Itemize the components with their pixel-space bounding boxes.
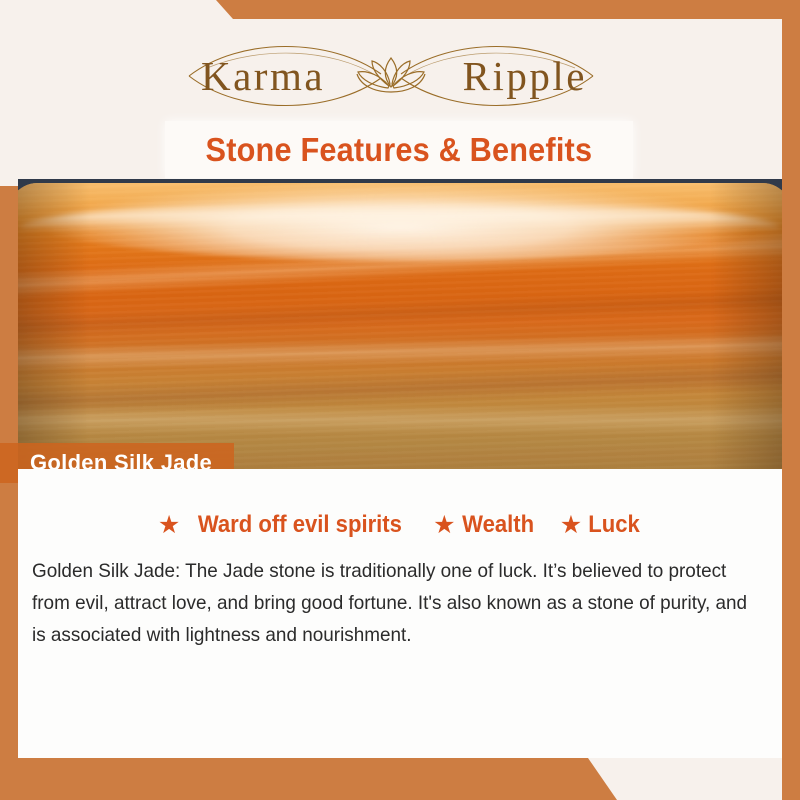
star-icon: ★ xyxy=(560,513,582,538)
frame-top-bar xyxy=(0,0,800,19)
benefit-item: ★ Wealth xyxy=(433,511,538,539)
benefit-label: Wealth xyxy=(463,511,535,539)
frame-right-bar xyxy=(782,0,800,800)
brand-name-second: Ripple xyxy=(463,52,587,100)
product-info-card: Karma Ripple Stone Features & Benefits G… xyxy=(0,0,800,800)
brand-name: Karma Ripple xyxy=(181,52,601,100)
section-title-banner: Stone Features & Benefits xyxy=(165,121,633,178)
stone-specimen xyxy=(18,183,782,469)
frame-left-bar xyxy=(0,186,18,800)
star-icon: ★ xyxy=(158,513,180,538)
star-icon: ★ xyxy=(433,513,455,538)
stone-image xyxy=(18,179,782,469)
benefit-label: Ward off evil spirits xyxy=(198,511,402,539)
benefit-label: Luck xyxy=(588,511,640,539)
page-title: Stone Features & Benefits xyxy=(206,131,593,169)
stone-edge-shading xyxy=(18,183,782,469)
stone-description: Golden Silk Jade: The Jade stone is trad… xyxy=(32,555,754,651)
content-panel: ★ Ward off evil spirits ★ Wealth ★ Luck … xyxy=(18,469,782,758)
brand-name-first: Karma xyxy=(201,52,325,100)
benefit-item: ★ Luck xyxy=(560,511,642,539)
brand-logo-inner: Karma Ripple xyxy=(181,28,601,124)
benefit-item: ★ Ward off evil spirits xyxy=(158,511,411,539)
benefits-list: ★ Ward off evil spirits ★ Wealth ★ Luck xyxy=(18,511,782,539)
frame-bottom-bar xyxy=(0,758,800,800)
brand-logo: Karma Ripple xyxy=(0,26,782,126)
